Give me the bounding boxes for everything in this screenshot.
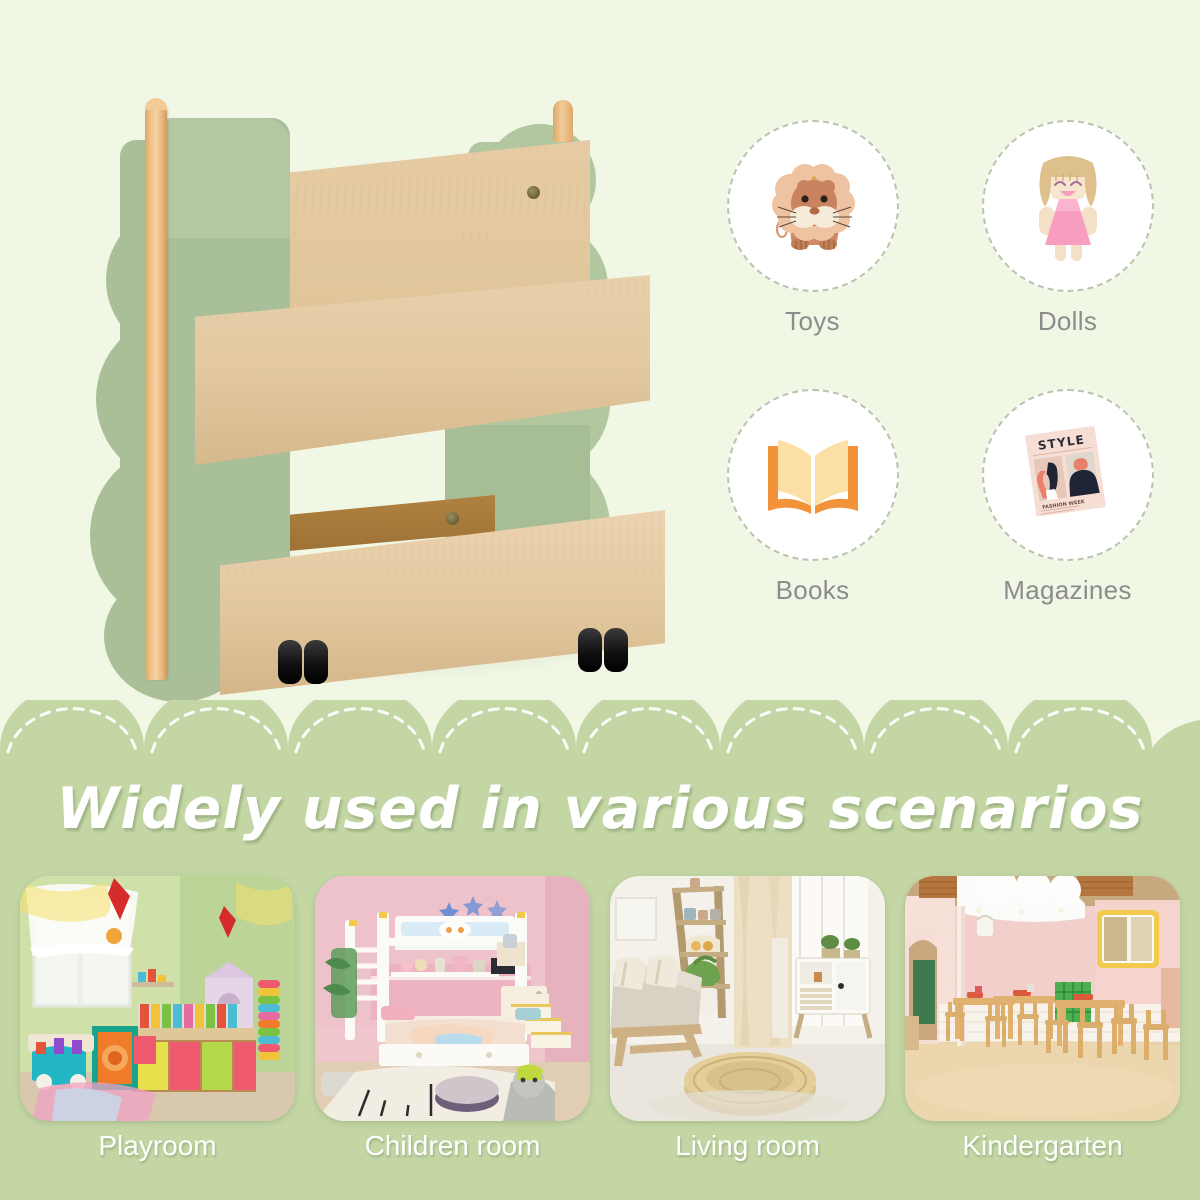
scenario-photo-living-room[interactable] [610, 876, 885, 1121]
scenario-caption-playroom: Playroom [20, 1130, 295, 1162]
feature-toys: Toys [700, 120, 925, 371]
children-room-photo [315, 876, 590, 1121]
playroom-photo [20, 876, 295, 1121]
scenario-photo-children-room[interactable] [315, 876, 590, 1121]
feature-magazines: STYLE FASHION WEEK Magazi [955, 389, 1180, 640]
scenario-photo-kindergarten[interactable] [905, 876, 1180, 1121]
feature-label: Dolls [1038, 306, 1097, 337]
wooden-dowel-strip [145, 102, 167, 680]
kindergarten-photo [905, 876, 1180, 1121]
scenarios-headline: Widely used in various scenarios [0, 776, 1200, 842]
feature-label: Toys [785, 306, 840, 337]
use-case-grid: Toys [700, 120, 1180, 640]
scenario-caption-living-room: Living room [610, 1130, 885, 1162]
open-book-icon [748, 410, 878, 540]
scenario-caption-children-room: Children room [315, 1130, 590, 1162]
screw-lower [446, 512, 459, 525]
living-room-photo [610, 876, 885, 1121]
scenario-photo-playroom[interactable] [20, 876, 295, 1121]
side-panel-face-top [162, 118, 290, 238]
scenario-photo-row [20, 876, 1180, 1121]
scenarios-section: Widely used in various scenarios [0, 806, 1200, 1200]
lion-toy-icon [748, 141, 878, 271]
feature-label: Magazines [1003, 575, 1131, 606]
feature-books: Books [700, 389, 925, 640]
feature-icon-circle [727, 389, 899, 561]
feature-icon-circle: STYLE FASHION WEEK [982, 389, 1154, 561]
caster-wheel-left [278, 640, 332, 686]
screw-upper [527, 186, 540, 199]
magazine-icon: STYLE FASHION WEEK [1003, 410, 1133, 540]
product-image [40, 40, 680, 690]
product-feature-section: Toys [0, 0, 1200, 718]
caster-wheel-right [578, 628, 632, 674]
feature-dolls: Dolls [955, 120, 1180, 371]
feature-label: Books [776, 575, 850, 606]
dowel-peg-far [553, 100, 573, 142]
doll-icon [1003, 141, 1133, 271]
scenario-caption-kindergarten: Kindergarten [905, 1130, 1180, 1162]
feature-icon-circle [727, 120, 899, 292]
feature-icon-circle [982, 120, 1154, 292]
